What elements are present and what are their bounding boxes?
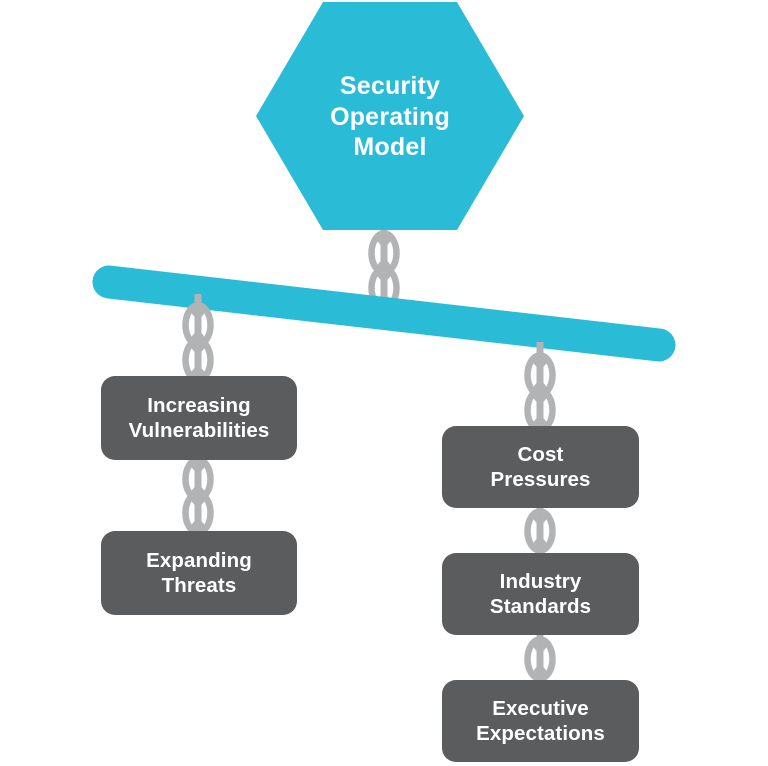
diagram-canvas: Security Operating Model Increasing Vuln…	[0, 0, 768, 766]
chain-hexagon-to-beam	[372, 228, 397, 308]
hexagon-security-operating-model[interactable]	[256, 2, 524, 230]
node-box-increasing-vulnerabilities[interactable]	[101, 376, 297, 460]
diagram-graphics	[0, 0, 768, 766]
node-box-industry-standards[interactable]	[442, 553, 639, 635]
chain-beam-to-cost-pressures	[528, 342, 553, 430]
chain-industry-standards-to-executive-expectations	[528, 633, 553, 684]
node-box-executive-expectations[interactable]	[442, 680, 639, 762]
chain-beam-to-increasing-vulnerabilities	[186, 294, 211, 380]
node-box-cost-pressures[interactable]	[442, 426, 639, 508]
node-box-expanding-threats[interactable]	[101, 531, 297, 615]
chain-cost-pressures-to-industry-standards	[528, 505, 553, 557]
chain-increasing-vulnerabilities-to-expanding-threats	[186, 456, 211, 534]
